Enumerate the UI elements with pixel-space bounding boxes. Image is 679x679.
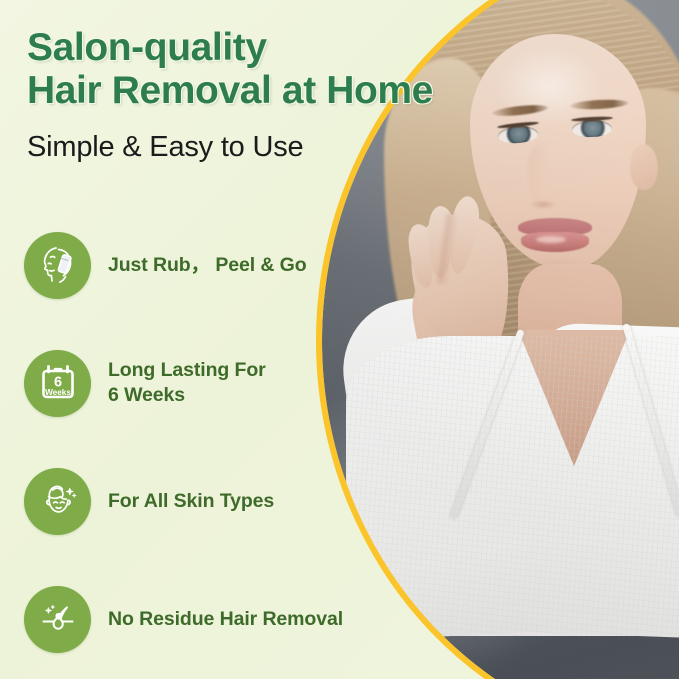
feature-item-no-residue: No Residue Hair Removal <box>0 560 430 678</box>
face-razor-icon <box>24 232 91 299</box>
model-nostrils <box>530 200 556 209</box>
face-spa-sparkle-icon <box>24 468 91 535</box>
feature-label-just-rub: Just Rub， Peel & Go <box>108 253 307 278</box>
feature-item-all-skin-types: For All Skin Types <box>0 442 430 560</box>
feature-label-line-1: Just Rub， Peel & Go <box>108 254 307 276</box>
feature-item-long-lasting: 6 Weeks Long Lasting For 6 Weeks <box>0 324 430 442</box>
page-subtitle: Simple & Easy to Use <box>27 131 303 164</box>
feature-label-no-residue: No Residue Hair Removal <box>108 607 343 632</box>
headline-line-2: Hair Removal at Home <box>27 69 507 112</box>
feature-list: Just Rub， Peel & Go 6 Weeks Long Lasting… <box>0 206 430 678</box>
feature-label-long-lasting: Long Lasting For 6 Weeks <box>108 358 266 408</box>
model-lip-highlight <box>536 236 566 243</box>
feature-label-line-1: Long Lasting For <box>108 359 266 381</box>
feature-label-line-1: For All Skin Types <box>108 490 274 512</box>
feature-label-line-1: No Residue Hair Removal <box>108 608 343 630</box>
product-infographic-poster: Salon-quality Hair Removal at Home Simpl… <box>0 0 679 679</box>
page-title: Salon-quality Hair Removal at Home <box>27 26 507 113</box>
copy-column: Salon-quality Hair Removal at Home Simpl… <box>0 0 430 679</box>
feature-item-just-rub: Just Rub， Peel & Go <box>0 206 430 324</box>
model-ear <box>630 144 658 190</box>
model-nose <box>528 144 558 206</box>
feature-label-line-2: 6 Weeks <box>108 383 266 408</box>
headline-line-1: Salon-quality <box>27 26 267 69</box>
calendar-six-weeks-icon: 6 Weeks <box>24 350 91 417</box>
feature-label-all-skin-types: For All Skin Types <box>108 489 274 514</box>
hair-follicle-sparkle-icon <box>24 586 91 653</box>
calendar-unit: Weeks <box>45 388 71 397</box>
